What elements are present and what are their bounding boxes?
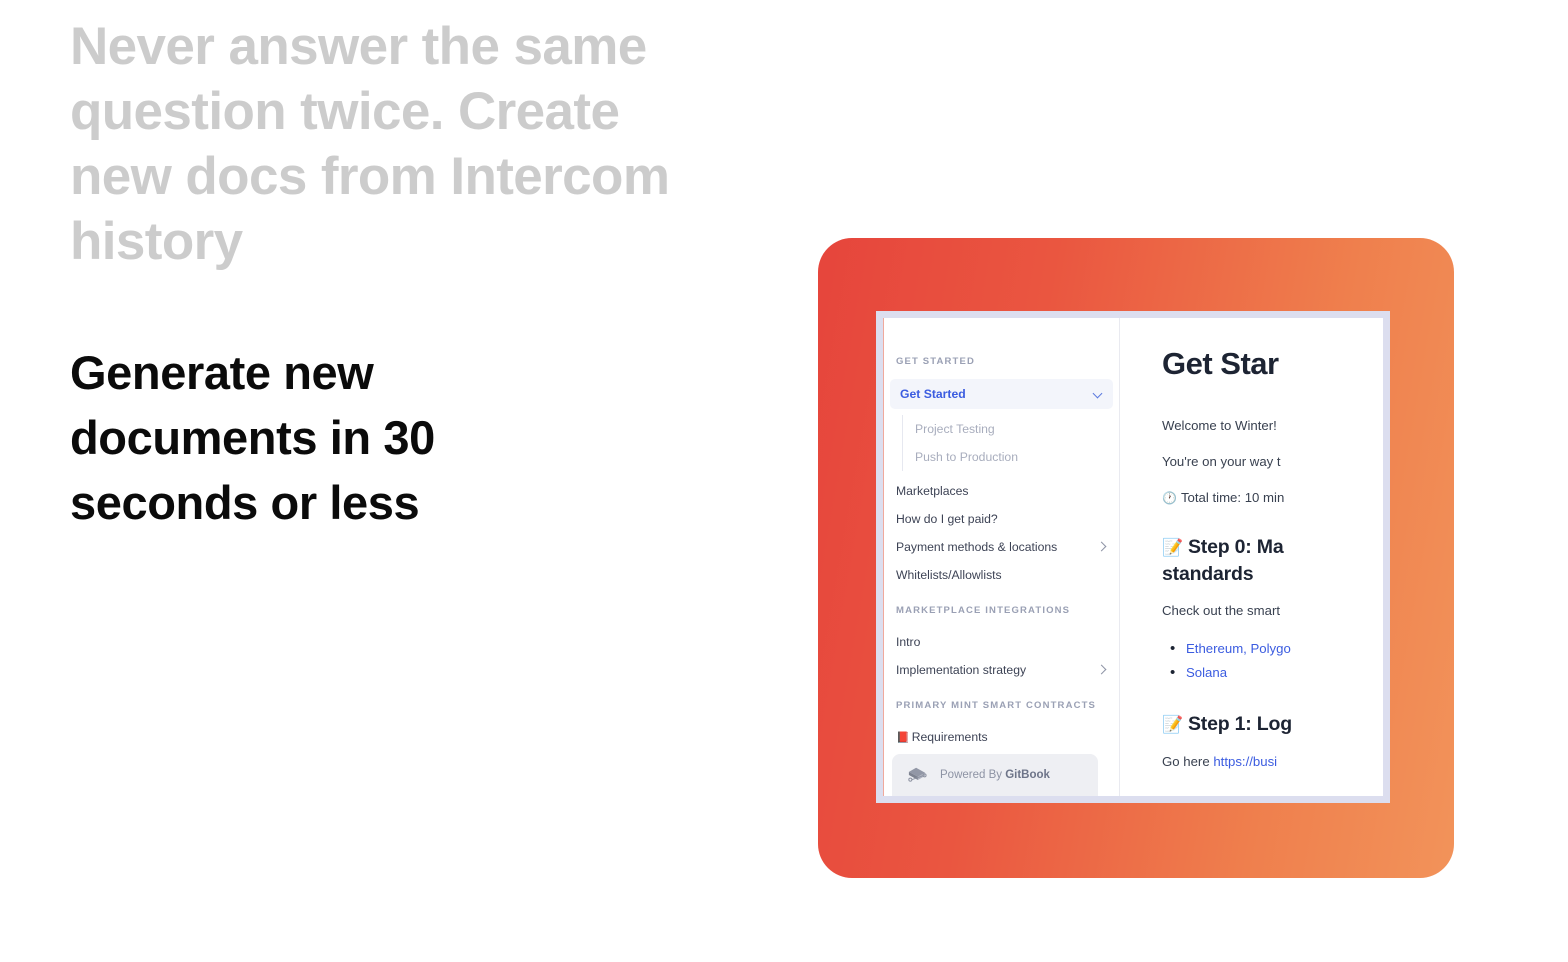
step-0-heading: 📝Step 0: Mastandards bbox=[1162, 534, 1383, 587]
main-headline: Generate new documents in 30 seconds or … bbox=[70, 340, 630, 535]
memo-icon: 📝 bbox=[1162, 538, 1183, 557]
screenshot-frame: GET STARTED Get Started Project Testing … bbox=[876, 311, 1390, 803]
page-root: Never answer the same question twice. Cr… bbox=[0, 0, 1568, 962]
nav-section-title-marketplace-integrations: MARKETPLACE INTEGRATIONS bbox=[884, 605, 1119, 616]
sidebar-item-implementation-strategy[interactable]: Implementation strategy bbox=[884, 656, 1119, 684]
step-1-intro-link[interactable]: https://busi bbox=[1213, 754, 1277, 769]
closed-book-icon: 📕 bbox=[896, 732, 910, 744]
nav-spacer bbox=[884, 684, 1119, 700]
sidebar-item-push-to-production[interactable]: Push to Production bbox=[903, 443, 1119, 471]
welcome-paragraph: Welcome to Winter! bbox=[1162, 416, 1383, 436]
powered-by-gitbook-badge[interactable]: Powered By GitBook bbox=[892, 754, 1098, 796]
step-1-heading-text: Step 1: Log bbox=[1188, 713, 1292, 735]
sidebar-sublist-get-started: Project Testing Push to Production bbox=[902, 415, 1119, 471]
sidebar-item-label: Whitelists/Allowlists bbox=[896, 567, 1002, 583]
step-0-heading-line1: Step 0: Ma bbox=[1188, 536, 1284, 558]
step-0-intro: Check out the smart bbox=[1162, 601, 1383, 621]
gitbook-brand: GitBook bbox=[1005, 769, 1050, 781]
sidebar-item-payment-methods-locations[interactable]: Payment methods & locations bbox=[884, 533, 1119, 561]
total-time-text: Total time: 10 min bbox=[1181, 490, 1284, 505]
step-0-link-list: Ethereum, Polygo Solana bbox=[1162, 637, 1383, 685]
sidebar-item-marketplaces[interactable]: Marketplaces bbox=[884, 477, 1119, 505]
intro-paragraph: You're on your way t bbox=[1162, 452, 1383, 472]
list-item[interactable]: Ethereum, Polygo bbox=[1162, 637, 1383, 661]
gitbook-sidebar: GET STARTED Get Started Project Testing … bbox=[884, 318, 1120, 796]
gitbook-logo-icon bbox=[906, 766, 928, 784]
powered-by-gitbook-label: Powered By GitBook bbox=[940, 769, 1050, 781]
gitbook-app: GET STARTED Get Started Project Testing … bbox=[883, 318, 1383, 796]
sidebar-item-label: Requirements bbox=[912, 730, 988, 744]
sidebar-item-label-wrap: 📕Requirements bbox=[896, 729, 988, 746]
list-item: Login bbox=[1162, 788, 1383, 796]
chevron-down-icon[interactable] bbox=[1093, 389, 1103, 399]
page-title: Get Star bbox=[1162, 346, 1383, 382]
step-1-intro: Go here https://busi bbox=[1162, 752, 1383, 772]
sidebar-item-label: Get Started bbox=[900, 386, 966, 402]
sidebar-item-requirements[interactable]: 📕Requirements bbox=[884, 723, 1119, 752]
sidebar-item-label: Payment methods & locations bbox=[896, 539, 1057, 555]
step-0-heading-line2: standards bbox=[1162, 563, 1253, 585]
sidebar-item-label: Marketplaces bbox=[896, 483, 968, 499]
sidebar-item-label: How do I get paid? bbox=[896, 511, 998, 527]
gitbook-content: Get Star Welcome to Winter! You're on yo… bbox=[1120, 318, 1383, 796]
faded-headline: Never answer the same question twice. Cr… bbox=[70, 14, 690, 274]
list-item[interactable]: Solana bbox=[1162, 661, 1383, 685]
step-1-heading: 📝Step 1: Log bbox=[1162, 711, 1383, 738]
chevron-right-icon[interactable] bbox=[1097, 665, 1107, 675]
memo-icon: 📝 bbox=[1162, 715, 1183, 734]
sidebar-item-get-started[interactable]: Get Started bbox=[890, 379, 1113, 409]
total-time-line: 🕐Total time: 10 min bbox=[1162, 488, 1383, 508]
sidebar-item-label: Implementation strategy bbox=[896, 662, 1026, 678]
powered-by-prefix: Powered By bbox=[940, 769, 1005, 781]
step-1-intro-prefix: Go here bbox=[1162, 754, 1213, 769]
step-1-ordered-list: Login Fill out the f bbox=[1162, 788, 1383, 796]
clock-icon: 🕐 bbox=[1162, 491, 1177, 505]
sidebar-item-whitelists-allowlists[interactable]: Whitelists/Allowlists bbox=[884, 561, 1119, 589]
sidebar-item-project-testing[interactable]: Project Testing bbox=[903, 415, 1119, 443]
sidebar-item-how-do-i-get-paid[interactable]: How do I get paid? bbox=[884, 505, 1119, 533]
chevron-right-icon[interactable] bbox=[1097, 542, 1107, 552]
nav-section-title-get-started: GET STARTED bbox=[884, 356, 1119, 367]
nav-section-title-primary-mint-smart-contracts: PRIMARY MINT SMART CONTRACTS bbox=[884, 700, 1119, 711]
sidebar-item-label: Intro bbox=[896, 634, 920, 650]
nav-spacer bbox=[884, 589, 1119, 605]
sidebar-item-intro[interactable]: Intro bbox=[884, 628, 1119, 656]
faded-headline-block: Never answer the same question twice. Cr… bbox=[70, 14, 690, 274]
